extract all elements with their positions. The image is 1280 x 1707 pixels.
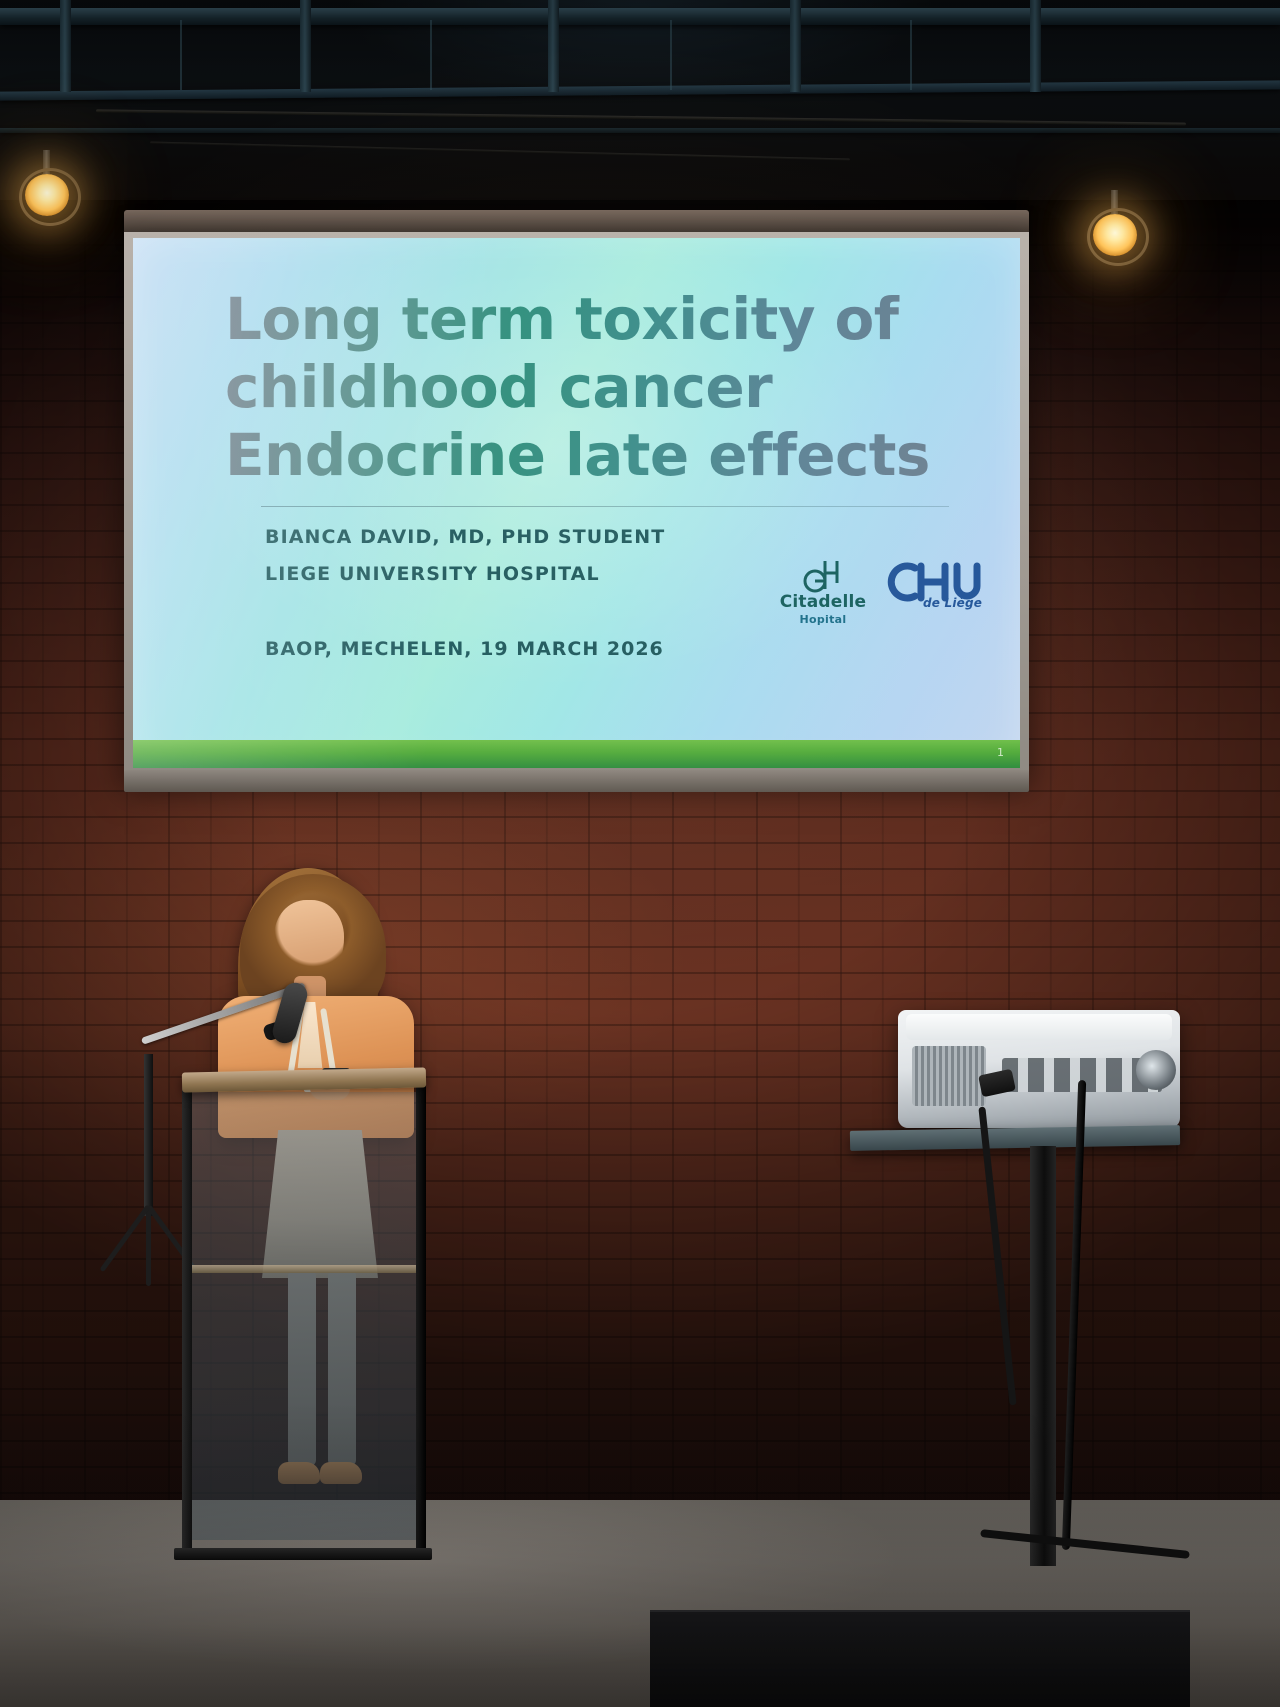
ceiling-cable [96,109,1186,125]
projector-cable [1062,1080,1086,1550]
lightbulb-icon [25,174,69,216]
tripod-leg [99,1205,150,1273]
truss-post [790,0,801,92]
microphone-post [144,1054,153,1216]
projector [898,1010,1180,1128]
chu-liege-logo: de Liège [881,562,993,610]
citadelle-name: Citadelle [773,594,873,612]
presentation-slide: Long term toxicity of childhood cancer E… [133,238,1020,768]
slide-venue-date: BAOP, MECHELEN, 19 MARCH 2026 [265,638,664,660]
slide-affiliation: LIEGE UNIVERSITY HOSPITAL [265,563,600,585]
ceiling-beam-tertiary [0,128,1280,133]
lectern-frame-right [416,1082,426,1552]
ceiling [0,0,1280,215]
ceiling-beam-primary [0,8,1280,25]
screen-bottom-bar [124,770,1029,792]
ceiling-lamp-right [1078,190,1152,268]
floor-equipment-box [650,1610,1190,1707]
slide-divider-rule [261,506,949,507]
projector-stand-column [1030,1146,1056,1566]
slide-content: Long term toxicity of childhood cancer E… [133,238,1020,768]
slide-title: Long term toxicity of childhood cancer E… [225,286,945,490]
lectern-top-surface [182,1067,426,1092]
lightbulb-icon [1093,214,1137,256]
projector-vent [912,1046,986,1106]
projector-stand-surface [850,1125,1180,1151]
truss-post [300,0,311,92]
lectern-frame-left [182,1082,192,1552]
tripod-leg [146,1206,151,1286]
lectern [168,1070,440,1570]
ceiling-cable [150,141,850,160]
ceiling-beam-secondary [0,80,1280,100]
lectern-glass-panel [190,1092,418,1540]
truss-brace [430,20,432,90]
slide-title-line-2: childhood cancer [225,354,945,422]
slide-logo-group: Citadelle Hopital [773,558,993,648]
truss-post [548,0,559,92]
ceiling-lamp-left [10,150,84,228]
slide-title-line-1: Long term toxicity of [225,286,945,354]
truss-post [60,0,71,92]
lectern-base [174,1548,432,1560]
slide-footer-bar: 1 [133,740,1020,768]
citadelle-logo: Citadelle Hopital [773,558,873,626]
photograph-scene: Long term toxicity of childhood cancer E… [0,0,1280,1707]
slide-presenter-name: BIANCA DAVID, MD, PHD STUDENT [265,526,665,548]
citadelle-subtitle: Hopital [773,613,873,626]
projector-cable [978,1106,1016,1405]
truss-brace [670,20,672,90]
lectern-rail [192,1265,416,1273]
projector-assembly [898,1010,1188,1570]
projector-lens-icon [1136,1050,1176,1090]
projection-screen: Long term toxicity of childhood cancer E… [124,210,1029,800]
citadelle-monogram-icon [773,558,873,594]
truss-brace [180,20,182,90]
slide-title-line-3: Endocrine late effects [225,422,945,490]
truss-post [1030,0,1041,92]
slide-number: 1 [997,746,1004,759]
truss-brace [910,20,912,90]
projector-top-panel [906,1014,1172,1040]
